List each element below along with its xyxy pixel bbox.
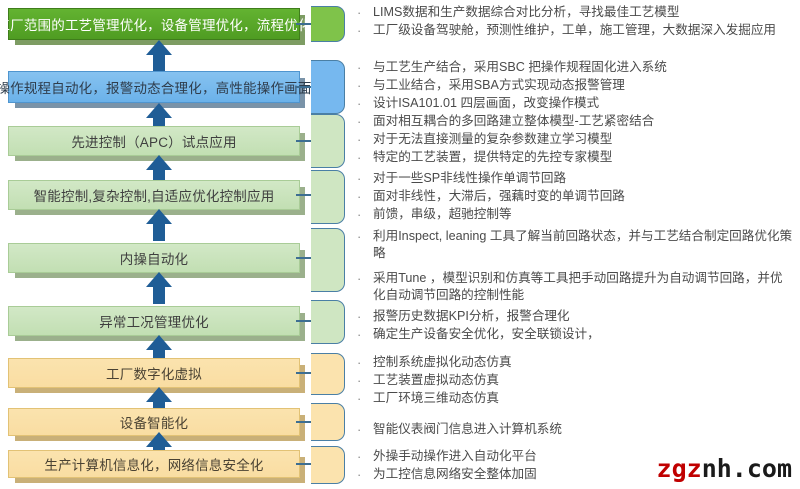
bullet-marker-icon: · xyxy=(355,354,373,371)
bullet-text: 利用Inspect, leaning 工具了解当前回路状态，并与工艺结合制定回路… xyxy=(373,228,793,262)
bullet-item: · 确定生产设备安全优化，安全联锁设计， xyxy=(355,326,793,343)
up-arrow-4 xyxy=(146,209,172,241)
level-bar-5[interactable]: 内操自动化 xyxy=(8,243,300,273)
bullet-item: · 前馈，串级，超驰控制等 xyxy=(355,206,793,223)
bullet-text: 特定的工艺装置，提供特定的先控专家模型 xyxy=(373,149,793,166)
brace-5 xyxy=(311,228,345,292)
bullet-marker-icon: · xyxy=(355,131,373,148)
bullet-marker-icon: · xyxy=(355,421,373,438)
bullet-group-4: · 对于一些SP非线性操作单调节回路 · 面对非线性，大滞后，强藕时变的单调节回… xyxy=(355,170,793,224)
bullet-text: 确定生产设备安全优化，安全联锁设计， xyxy=(373,326,793,343)
bullet-item: · 采用Tune ，模型识别和仿真等工具把手动回路提升为自动调节回路，并优化自动… xyxy=(355,270,793,304)
brace-3 xyxy=(311,114,345,168)
bullet-marker-icon: · xyxy=(355,372,373,389)
bullet-text: 工艺装置虚拟动态仿真 xyxy=(373,372,793,389)
level-bar-7[interactable]: 工厂数字化虚拟 xyxy=(8,358,300,388)
bullet-item: · 对于无法直接测量的复杂参数建立学习模型 xyxy=(355,131,793,148)
bullet-item: · 面对相互耦合的多回路建立整体模型-工艺紧密结合 xyxy=(355,113,793,130)
level-bar-9[interactable]: 生产计算机信息化，网络信息安全化 xyxy=(8,450,300,478)
bullet-text: 控制系统虚拟化动态仿真 xyxy=(373,354,793,371)
bullet-item: · 特定的工艺装置，提供特定的先控专家模型 xyxy=(355,149,793,166)
bullet-text: 设计ISA101.01 四层画面，改变操作模式 xyxy=(373,95,793,112)
bullet-marker-icon: · xyxy=(355,59,373,76)
level-label-7: 工厂数字化虚拟 xyxy=(9,359,299,387)
bullet-text: 工厂环境三维动态仿真 xyxy=(373,390,793,407)
level-label-5: 内操自动化 xyxy=(9,244,299,272)
level-label-1: 工厂范围的工艺管理优化，设备管理优化，流程优化 xyxy=(9,9,299,39)
bullet-marker-icon: · xyxy=(355,149,373,166)
bullet-marker-icon: · xyxy=(355,448,373,465)
level-label-2: 操作规程自动化，报警动态合理化，高性能操作画面 xyxy=(9,72,299,102)
bullet-item: · 设计ISA101.01 四层画面，改变操作模式 xyxy=(355,95,793,112)
level-bar-4[interactable]: 智能控制,复杂控制,自适应优化控制应用 xyxy=(8,180,300,210)
bullet-item: · 控制系统虚拟化动态仿真 xyxy=(355,354,793,371)
level-bar-6[interactable]: 异常工况管理优化 xyxy=(8,306,300,336)
bullet-marker-icon: · xyxy=(355,77,373,94)
bullet-item: · 利用Inspect, leaning 工具了解当前回路状态，并与工艺结合制定… xyxy=(355,228,793,262)
bullet-text: 采用Tune ，模型识别和仿真等工具把手动回路提升为自动调节回路，并优化自动调节… xyxy=(373,270,793,304)
brace-8 xyxy=(311,403,345,441)
bullet-item: · 与工艺生产结合，采用SBC 把操作规程固化进入系统 xyxy=(355,59,793,76)
diagram-canvas: 工厂范围的工艺管理优化，设备管理优化，流程优化 操作规程自动化，报警动态合理化，… xyxy=(0,0,800,489)
bullet-marker-icon: · xyxy=(355,188,373,205)
level-bar-2[interactable]: 操作规程自动化，报警动态合理化，高性能操作画面 xyxy=(8,71,300,103)
site-watermark: zgznh.com xyxy=(657,454,792,483)
bullet-marker-icon: · xyxy=(355,390,373,407)
bullet-group-3: · 面对相互耦合的多回路建立整体模型-工艺紧密结合 · 对于无法直接测量的复杂参… xyxy=(355,113,793,167)
bullet-text: LIMS数据和生产数据综合对比分析，寻找最佳工艺模型 xyxy=(373,4,793,21)
level-label-3: 先进控制（APC）试点应用 xyxy=(9,127,299,155)
bullet-text: 对于无法直接测量的复杂参数建立学习模型 xyxy=(373,131,793,148)
brace-1 xyxy=(311,6,345,42)
level-label-9: 生产计算机信息化，网络信息安全化 xyxy=(9,451,299,477)
bullet-marker-icon: · xyxy=(355,22,373,39)
bullet-text: 工厂级设备驾驶舱，预测性维护，工单，施工管理，大数据深入发掘应用 xyxy=(373,22,793,39)
bullet-item: · 智能仪表阀门信息进入计算机系统 xyxy=(355,421,793,438)
bullet-item: · 工厂环境三维动态仿真 xyxy=(355,390,793,407)
level-label-4: 智能控制,复杂控制,自适应优化控制应用 xyxy=(9,181,299,209)
bullet-group-8: · 智能仪表阀门信息进入计算机系统 xyxy=(355,421,793,439)
brace-7 xyxy=(311,353,345,395)
brace-6 xyxy=(311,300,345,344)
bullet-item: · 面对非线性，大滞后，强藕时变的单调节回路 xyxy=(355,188,793,205)
bullet-marker-icon: · xyxy=(355,270,373,287)
bullet-item: · 报警历史数据KPI分析，报警合理化 xyxy=(355,308,793,325)
bullet-text: 与工艺生产结合，采用SBC 把操作规程固化进入系统 xyxy=(373,59,793,76)
bullet-group-5: · 利用Inspect, leaning 工具了解当前回路状态，并与工艺结合制定… xyxy=(355,228,793,305)
bullet-item: · 工厂级设备驾驶舱，预测性维护，工单，施工管理，大数据深入发掘应用 xyxy=(355,22,793,39)
bullet-item: · 对于一些SP非线性操作单调节回路 xyxy=(355,170,793,187)
bullet-marker-icon: · xyxy=(355,113,373,130)
bullet-marker-icon: · xyxy=(355,466,373,483)
bullet-item: · 与工业结合，采用SBA方式实现动态报警管理 xyxy=(355,77,793,94)
level-label-6: 异常工况管理优化 xyxy=(9,307,299,335)
bullet-marker-icon: · xyxy=(355,206,373,223)
bullet-text: 报警历史数据KPI分析，报警合理化 xyxy=(373,308,793,325)
bullet-group-1: · LIMS数据和生产数据综合对比分析，寻找最佳工艺模型 · 工厂级设备驾驶舱，… xyxy=(355,4,793,40)
bullet-marker-icon: · xyxy=(355,308,373,325)
bullet-text: 前馈，串级，超驰控制等 xyxy=(373,206,793,223)
bullet-marker-icon: · xyxy=(355,4,373,21)
bullet-text: 与工业结合，采用SBA方式实现动态报警管理 xyxy=(373,77,793,94)
bullet-group-7: · 控制系统虚拟化动态仿真 · 工艺装置虚拟动态仿真 · 工厂环境三维动态仿真 xyxy=(355,354,793,408)
bullet-group-2: · 与工艺生产结合，采用SBC 把操作规程固化进入系统 · 与工业结合，采用SB… xyxy=(355,59,793,113)
brace-2 xyxy=(311,60,345,114)
bullet-item: · LIMS数据和生产数据综合对比分析，寻找最佳工艺模型 xyxy=(355,4,793,21)
watermark-red-text: zgz xyxy=(657,454,702,483)
level-bar-1[interactable]: 工厂范围的工艺管理优化，设备管理优化，流程优化 xyxy=(8,8,300,40)
bullet-marker-icon: · xyxy=(355,170,373,187)
bullet-item: · 工艺装置虚拟动态仿真 xyxy=(355,372,793,389)
bullet-marker-icon: · xyxy=(355,326,373,343)
brace-4 xyxy=(311,170,345,224)
bullet-group-6: · 报警历史数据KPI分析，报警合理化 · 确定生产设备安全优化，安全联锁设计， xyxy=(355,308,793,344)
bullet-text: 对于一些SP非线性操作单调节回路 xyxy=(373,170,793,187)
watermark-black-text: nh.com xyxy=(702,454,792,483)
level-bar-3[interactable]: 先进控制（APC）试点应用 xyxy=(8,126,300,156)
brace-9 xyxy=(311,446,345,484)
up-arrow-1 xyxy=(146,40,172,72)
bullet-text: 面对相互耦合的多回路建立整体模型-工艺紧密结合 xyxy=(373,113,793,130)
bullet-text: 面对非线性，大滞后，强藕时变的单调节回路 xyxy=(373,188,793,205)
bullet-marker-icon: · xyxy=(355,228,373,245)
bullet-marker-icon: · xyxy=(355,95,373,112)
bullet-text: 智能仪表阀门信息进入计算机系统 xyxy=(373,421,793,438)
up-arrow-5 xyxy=(146,272,172,304)
